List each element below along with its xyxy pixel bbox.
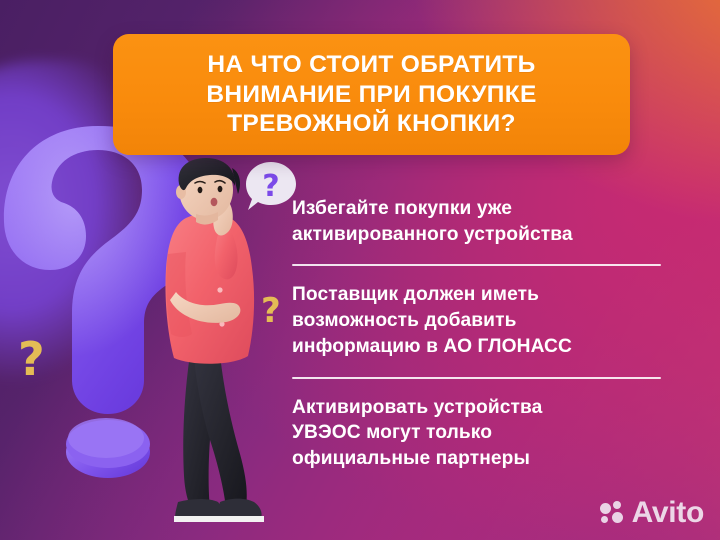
list-item: Избегайте покупки уже активированного ус… — [292, 196, 664, 247]
avito-watermark: Avito — [600, 498, 704, 528]
avito-wordmark: Avito — [632, 498, 704, 528]
avito-dots-icon — [600, 501, 626, 525]
speech-bubble-question-icon: ? — [245, 160, 298, 213]
divider — [292, 377, 661, 379]
page-title: НА ЧТО СТОИТ ОБРАТИТЬ ВНИМАНИЕ ПРИ ПОКУП… — [206, 50, 536, 140]
divider — [292, 264, 661, 266]
svg-text:?: ? — [262, 169, 279, 204]
list-item: Поставщик должен иметь возможность добав… — [292, 282, 664, 359]
question-mark-icon: ? — [261, 294, 281, 328]
title-card: НА ЧТО СТОИТ ОБРАТИТЬ ВНИМАНИЕ ПРИ ПОКУП… — [113, 34, 630, 155]
list-item: Активировать устройства УВЭОС могут толь… — [292, 395, 664, 472]
question-mark-icon: ? — [18, 336, 45, 382]
advice-list: Избегайте покупки уже активированного ус… — [292, 196, 664, 472]
promo-banner: ? ? ? НА ЧТО СТОИТ ОБРАТИТЬ ВНИМАНИЕ ПРИ… — [0, 0, 720, 540]
